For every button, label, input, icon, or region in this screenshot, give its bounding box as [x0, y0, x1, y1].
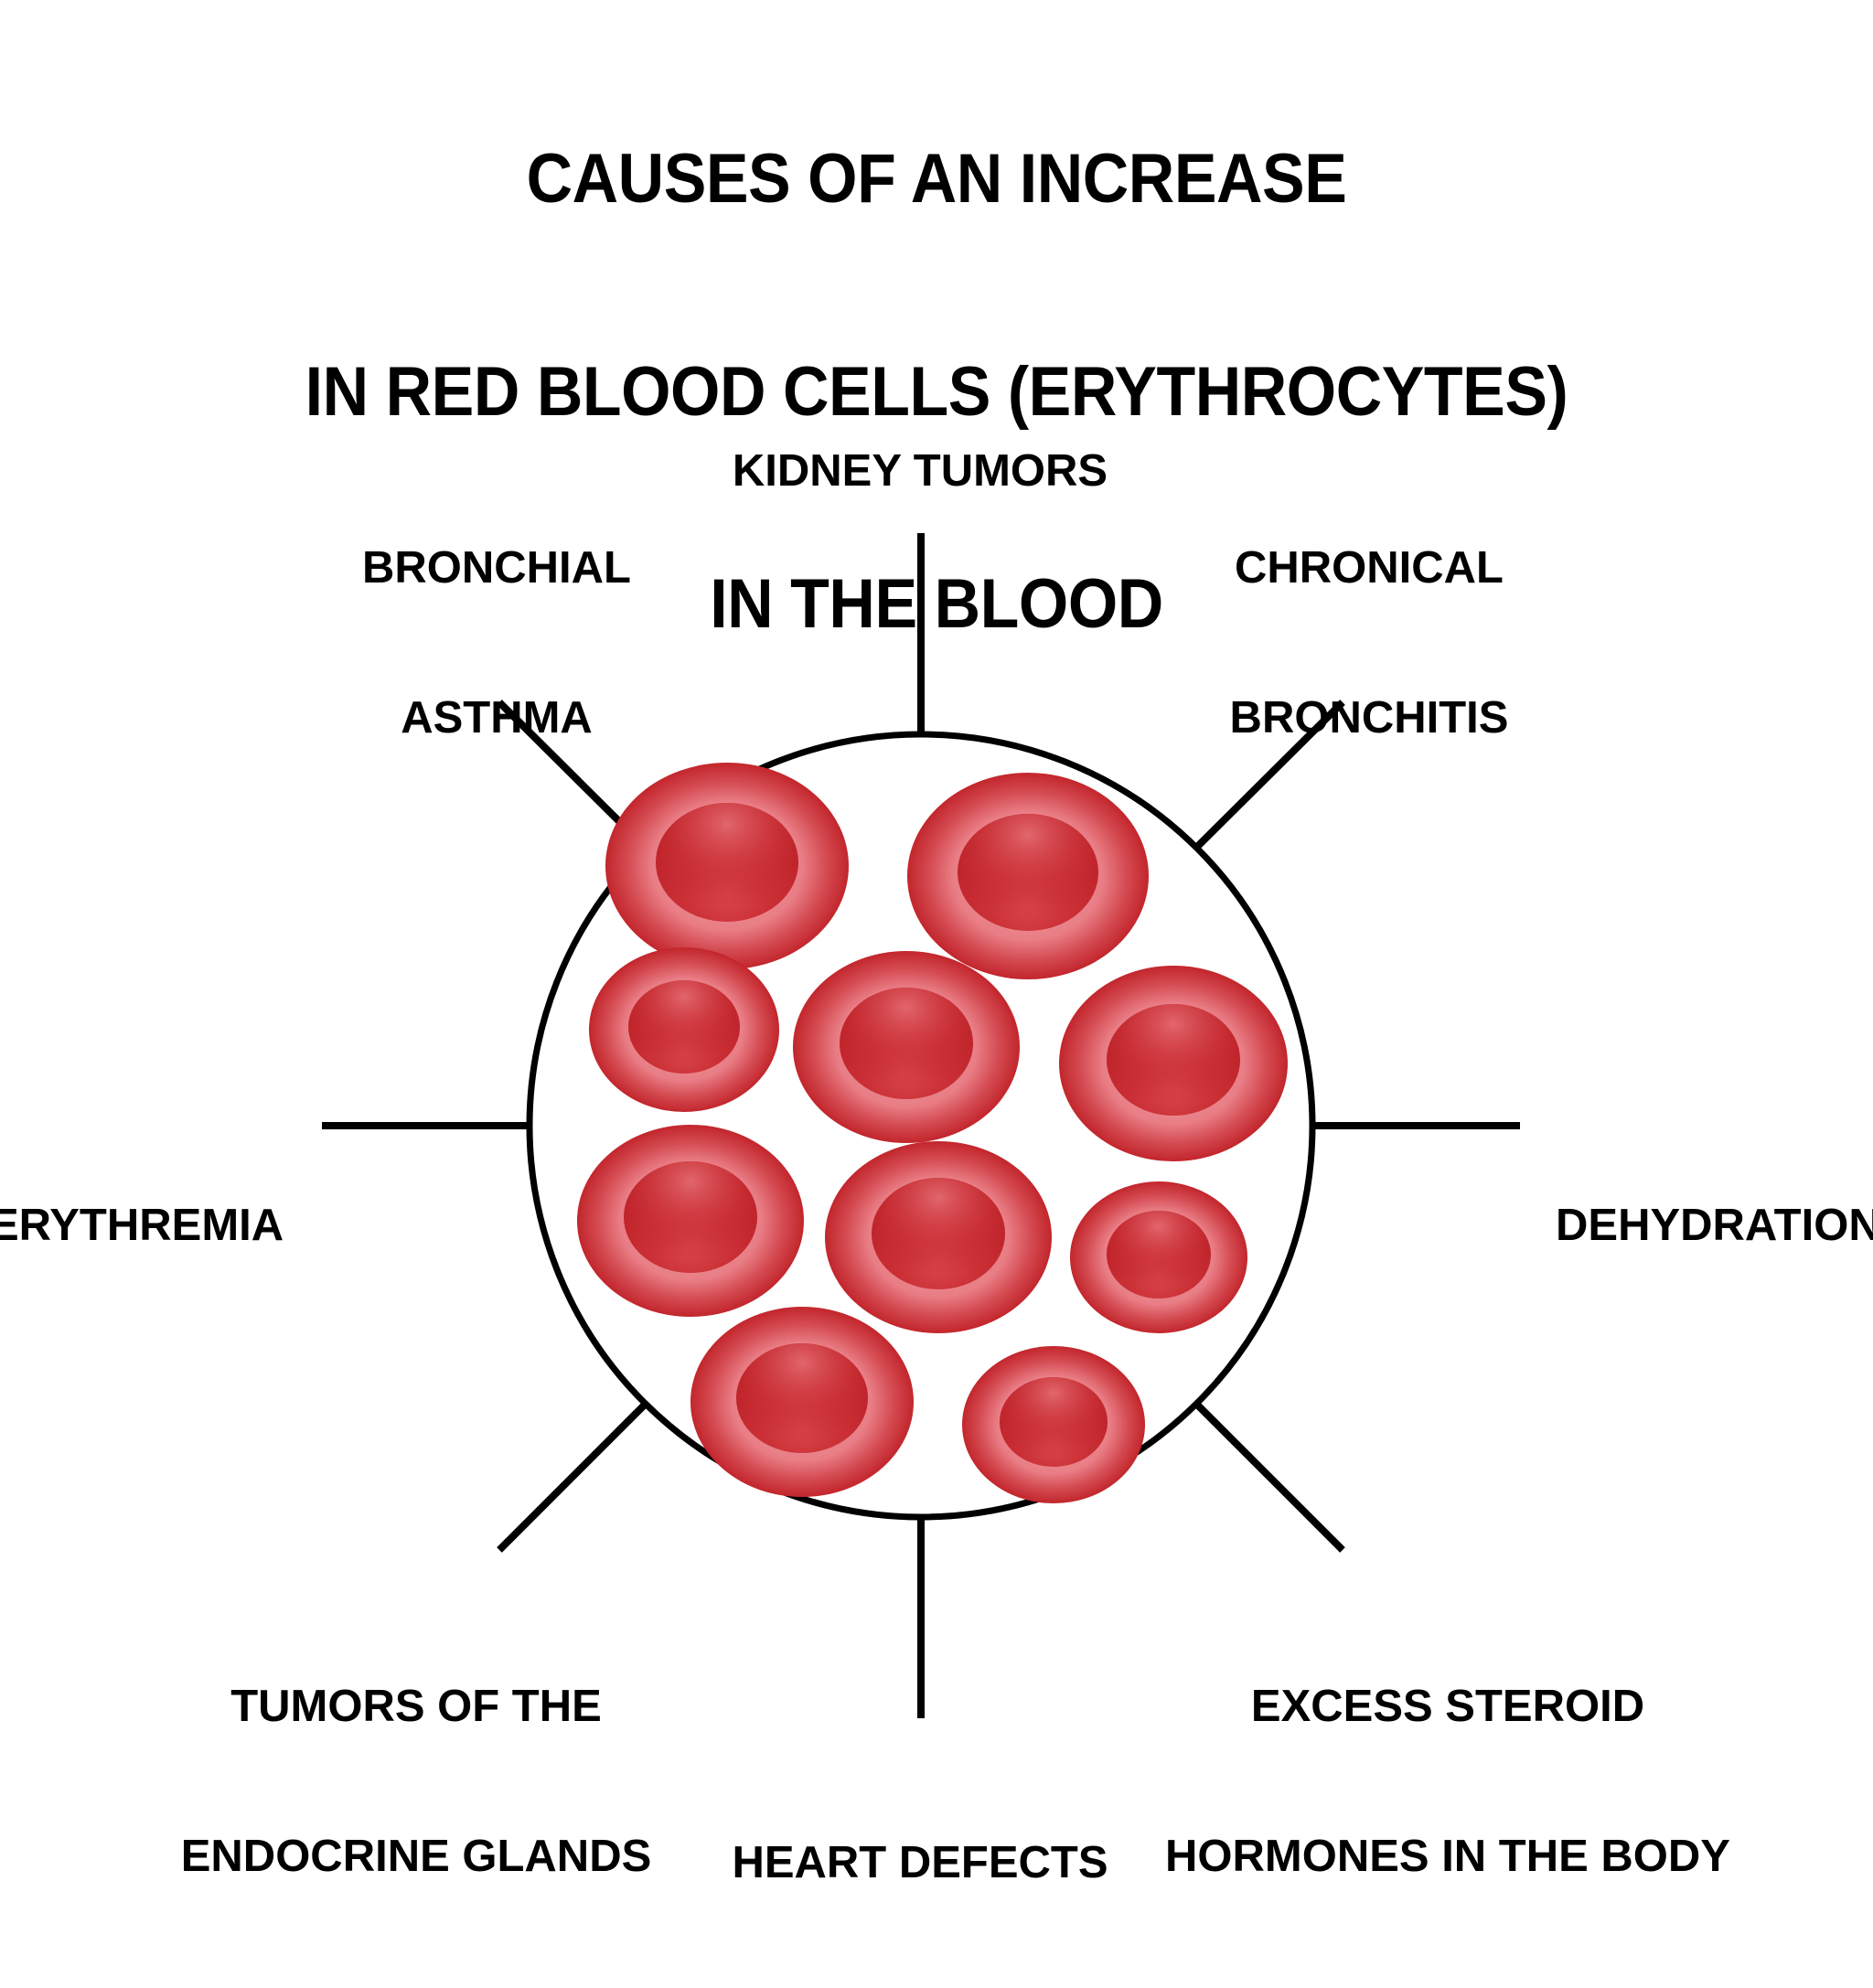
label-endocrine-tumors: TUMORS OF THE ENDOCRINE GLANDS: [181, 1581, 652, 1983]
erythrocyte-6: [577, 1125, 804, 1317]
erythrocyte-8: [1070, 1181, 1247, 1333]
label-dehydration: DEHYDRATION: [1556, 1100, 1873, 1351]
label-bronchial-asthma-line-2: ASTHMA: [362, 693, 631, 743]
label-bronchial-asthma-line-1: BRONCHIAL: [362, 543, 631, 593]
label-kidney-tumors-line-1: KIDNEY TUMORS: [733, 446, 1108, 497]
erythrocyte-10: [962, 1346, 1145, 1503]
label-bronchial-asthma: BRONCHIAL ASTHMA: [362, 443, 631, 844]
label-heart-defects: HEART DEFECTS: [732, 1737, 1108, 1988]
erythrocyte-4: [793, 951, 1020, 1143]
label-chronical-bronchitis-line-1: CHRONICAL: [1230, 543, 1509, 593]
erythrocyte-2: [907, 773, 1149, 979]
label-kidney-tumors: KIDNEY TUMORS: [733, 346, 1108, 596]
label-erythremia-line-1: ERYTHREMIA: [0, 1201, 284, 1251]
erythrocyte-5: [1059, 966, 1288, 1161]
blood-cell-diagram: [0, 0, 1873, 1801]
erythrocyte-7: [825, 1141, 1052, 1333]
erythrocyte-3: [589, 947, 779, 1112]
label-excess-steroid-line-1: EXCESS STEROID: [1165, 1682, 1730, 1732]
label-excess-steroid-line-2: HORMONES IN THE BODY: [1165, 1832, 1730, 1882]
label-chronical-bronchitis: CHRONICAL BRONCHITIS: [1230, 443, 1509, 844]
label-chronical-bronchitis-line-2: BRONCHITIS: [1230, 693, 1509, 743]
label-excess-steroid: EXCESS STEROID HORMONES IN THE BODY: [1165, 1581, 1730, 1983]
label-dehydration-line-1: DEHYDRATION: [1556, 1201, 1873, 1251]
infographic-canvas: CAUSES OF AN INCREASE IN RED BLOOD CELLS…: [0, 0, 1873, 1801]
erythrocyte-1: [605, 763, 849, 969]
erythrocyte-9: [690, 1307, 914, 1497]
label-heart-defects-line-1: HEART DEFECTS: [732, 1838, 1108, 1888]
arrow-excess-steroid: [1193, 1401, 1343, 1550]
arrow-endocrine-tumors: [499, 1401, 648, 1550]
label-endocrine-tumors-line-2: ENDOCRINE GLANDS: [181, 1832, 652, 1882]
label-erythremia: ERYTHREMIA: [0, 1100, 284, 1351]
label-endocrine-tumors-line-1: TUMORS OF THE: [181, 1682, 652, 1732]
